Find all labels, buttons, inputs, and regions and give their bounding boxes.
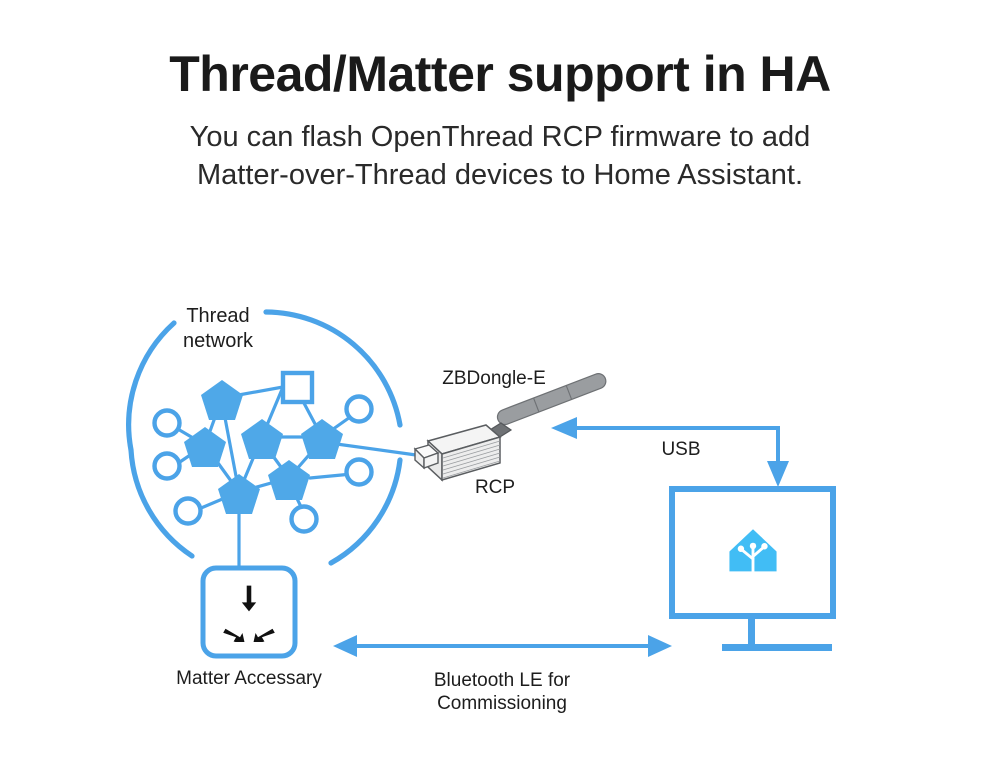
border-router-square <box>283 373 312 402</box>
thread-network-label-line2: network <box>183 330 254 352</box>
monitor-base <box>722 644 832 651</box>
arc-segment-top-right <box>266 312 400 425</box>
bluetooth-label-line1: Bluetooth LE for <box>434 670 571 691</box>
bluetooth-le-connection <box>333 635 672 657</box>
subtitle-line-1: You can flash OpenThread RCP firmware to… <box>0 119 1000 157</box>
endpoint-mid-right <box>347 460 372 485</box>
router-left <box>184 427 226 467</box>
bluetooth-arrowhead-left <box>333 635 357 657</box>
endpoint-upper-right <box>347 397 372 422</box>
bluetooth-label-line2: Commissioning <box>437 693 567 714</box>
matter-accessory-label: Matter Accessary <box>176 668 322 689</box>
home-assistant-host-monitor <box>672 489 833 651</box>
thread-network-label-line1: Thread <box>186 305 249 327</box>
router-lower-center <box>268 460 310 500</box>
endpoint-lower-left <box>155 454 180 479</box>
endpoint-bottom-right <box>292 507 317 532</box>
mesh-router-nodes <box>184 380 343 514</box>
usb-arrowhead-to-host <box>767 461 789 487</box>
endpoint-bottom-left <box>176 499 201 524</box>
router-top-left <box>201 380 243 420</box>
matter-accessory-box <box>203 568 295 656</box>
rcp-label: RCP <box>475 477 515 498</box>
header: Thread/Matter support in HA You can flas… <box>0 0 1000 194</box>
dongle-label: ZBDongle-E <box>442 368 546 389</box>
architecture-diagram: Thread network Matter Accessary <box>0 250 1000 776</box>
endpoint-upper-left <box>155 411 180 436</box>
router-center <box>241 419 283 459</box>
router-bottom-left <box>218 474 260 514</box>
usb-arrowhead-to-dongle <box>551 417 577 439</box>
usb-label: USB <box>661 439 700 460</box>
infographic-page: Thread/Matter support in HA You can flas… <box>0 0 1000 776</box>
bluetooth-arrowhead-right <box>648 635 672 657</box>
page-subtitle: You can flash OpenThread RCP firmware to… <box>0 101 1000 194</box>
page-title: Thread/Matter support in HA <box>0 0 1000 101</box>
subtitle-line-2: Matter-over-Thread devices to Home Assis… <box>0 157 1000 195</box>
mesh-endpoint-nodes <box>155 397 372 532</box>
monitor-stand <box>748 616 755 648</box>
